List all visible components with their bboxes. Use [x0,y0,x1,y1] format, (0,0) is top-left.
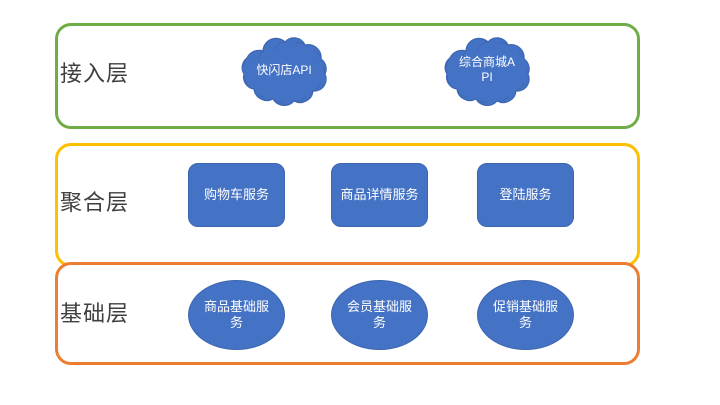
node-label: 综合商城API [458,55,516,85]
layer-label-aggregation: 聚合层 [60,192,129,214]
node-product-base-service[interactable]: 商品基础服务 [188,280,285,350]
node-cart-service[interactable]: 购物车服务 [188,163,285,227]
layered-architecture-diagram: 接入层 快闪店API 综合商城API 聚合层 购物车服务 商品详情服务 登陆服务… [0,0,720,405]
node-product-detail-service[interactable]: 商品详情服务 [331,163,428,227]
node-label: 登陆服务 [499,187,551,203]
node-member-base-service[interactable]: 会员基础服务 [331,280,428,350]
layer-container-access [55,23,640,129]
node-label: 促销基础服务 [492,299,560,331]
node-mall-api[interactable]: 综合商城API [440,29,534,111]
layer-label-foundation: 基础层 [60,303,129,325]
node-label: 会员基础服务 [346,299,414,331]
node-label: 快闪店API [255,63,313,78]
node-promotion-base-service[interactable]: 促销基础服务 [477,280,574,350]
layer-label-access: 接入层 [60,63,129,85]
node-login-service[interactable]: 登陆服务 [477,163,574,227]
node-label: 商品详情服务 [340,187,418,203]
node-label: 商品基础服务 [203,299,271,331]
node-label: 购物车服务 [204,187,269,203]
node-flash-store-api[interactable]: 快闪店API [237,29,331,111]
